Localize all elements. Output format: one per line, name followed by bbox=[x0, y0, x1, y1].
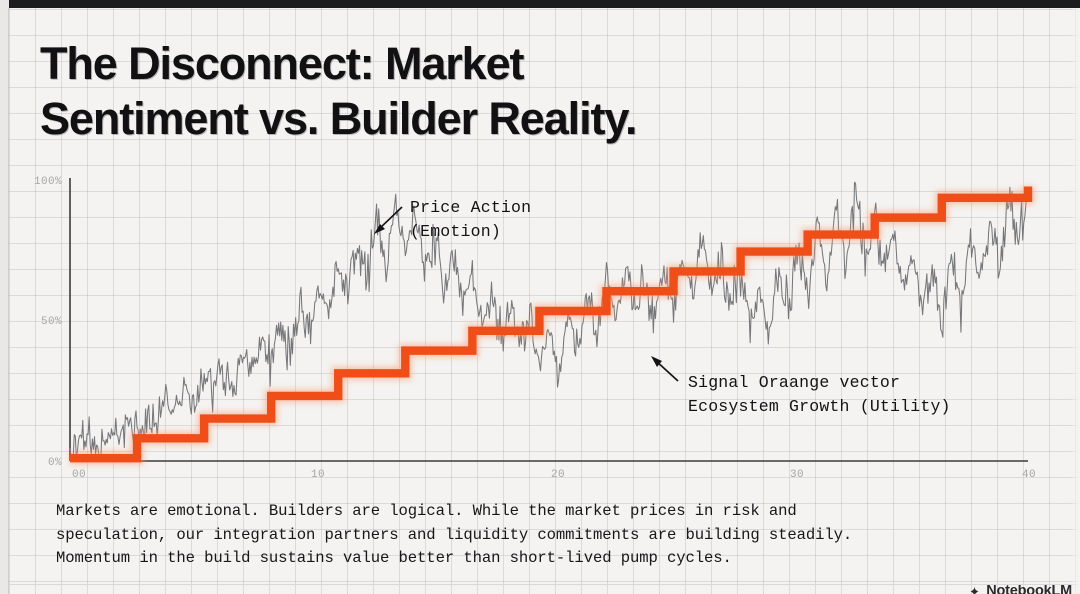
y-tick-100: 100% bbox=[34, 176, 62, 188]
frame-right-fade bbox=[1070, 8, 1080, 594]
page-title-line-2: Sentiment vs. Builder Reality. bbox=[40, 91, 840, 146]
x-tick-30: 30 bbox=[790, 469, 804, 480]
annotation-price-line-2: (Emotion) bbox=[410, 222, 501, 241]
caption-line-2: speculation, our integration partners an… bbox=[56, 524, 1046, 548]
caption-line-1: Markets are emotional. Builders are logi… bbox=[56, 500, 1046, 524]
annotation-utility-line-2: Ecosystem Growth (Utility) bbox=[688, 397, 951, 416]
annotation-price-action: Price Action (Emotion) bbox=[374, 198, 531, 241]
frame-top-bar bbox=[0, 0, 1080, 8]
x-tick-0: 00 bbox=[72, 469, 86, 480]
x-tick-20: 20 bbox=[551, 469, 565, 480]
annotation-ecosystem-growth: Signal Oraange vector Ecosystem Growth (… bbox=[651, 356, 951, 416]
frame-bottom-rule bbox=[9, 584, 1080, 585]
annotation-utility-line-1: Signal Oraange vector bbox=[688, 373, 900, 392]
page-title: The Disconnect: Market Sentiment vs. Bui… bbox=[40, 36, 840, 146]
page-title-line-1: The Disconnect: Market bbox=[40, 36, 840, 91]
frame-left-rule bbox=[8, 8, 9, 594]
chart-svg: 100% 50% 0% 00 10 20 30 40 Price Action … bbox=[0, 160, 1080, 480]
spark-icon bbox=[968, 585, 981, 594]
chart-area: 100% 50% 0% 00 10 20 30 40 Price Action … bbox=[0, 160, 1080, 480]
annotation-price-line-1: Price Action bbox=[410, 198, 531, 217]
ecosystem-step-line bbox=[70, 186, 1028, 458]
y-tick-50: 50% bbox=[41, 316, 62, 328]
slide-canvas: The Disconnect: Market Sentiment vs. Bui… bbox=[0, 0, 1080, 594]
caption-line-3: Momentum in the build sustains value bet… bbox=[56, 547, 1046, 571]
x-tick-40: 40 bbox=[1022, 469, 1036, 480]
x-tick-10: 10 bbox=[311, 469, 325, 480]
y-tick-0: 0% bbox=[48, 457, 62, 469]
caption-block: Markets are emotional. Builders are logi… bbox=[56, 500, 1046, 571]
